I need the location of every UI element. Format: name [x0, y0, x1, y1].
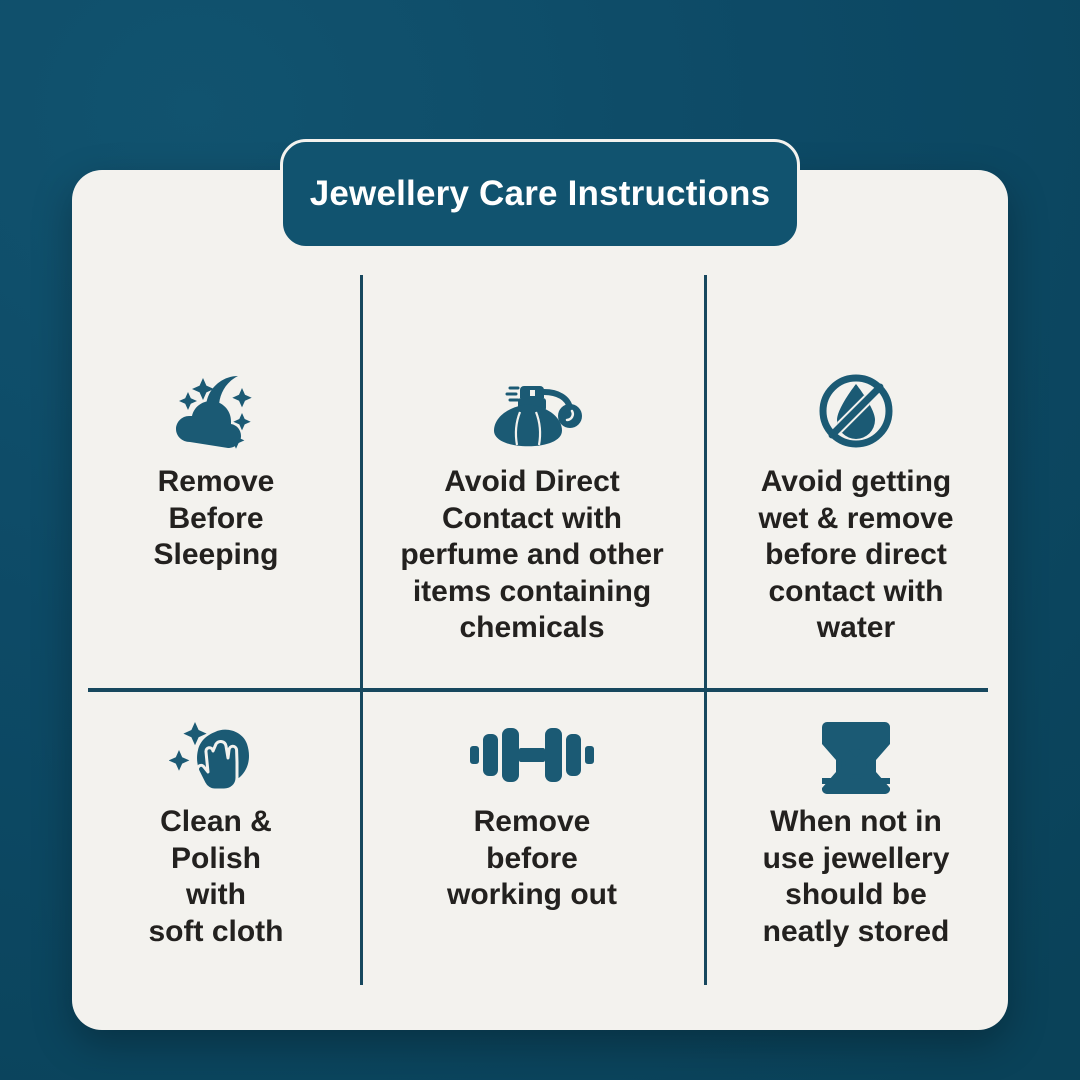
tip-card-store-neatly: When not in use jewellery should be neat… [704, 688, 1008, 1030]
ring-box-icon [813, 716, 899, 794]
tip-caption: Remove Before Sleeping [147, 464, 284, 574]
title-banner: Jewellery Care Instructions [280, 139, 800, 249]
tip-card-clean-polish: Clean & Polish with soft cloth [72, 688, 360, 1030]
tip-caption: Avoid Direct Contact with perfume and ot… [394, 464, 669, 647]
tip-card-remove-before-workout: Remove before working out [360, 688, 704, 1030]
moon-cloud-stars-icon [168, 368, 264, 454]
polish-cloth-hand-icon [169, 716, 263, 794]
poster-canvas: Jewellery Care Instructions Rem [0, 0, 1080, 1080]
tip-caption: Remove before working out [441, 804, 623, 914]
page-title: Jewellery Care Instructions [310, 174, 771, 214]
tips-grid: Remove Before Sleeping [72, 170, 1008, 1030]
tip-caption: When not in use jewellery should be neat… [757, 804, 956, 950]
tip-caption: Clean & Polish with soft cloth [143, 804, 290, 950]
dumbbell-icon [468, 716, 596, 794]
no-water-drop-icon [813, 368, 899, 454]
perfume-bottle-icon [480, 368, 584, 454]
tip-caption: Avoid getting wet & remove before direct… [752, 464, 959, 647]
